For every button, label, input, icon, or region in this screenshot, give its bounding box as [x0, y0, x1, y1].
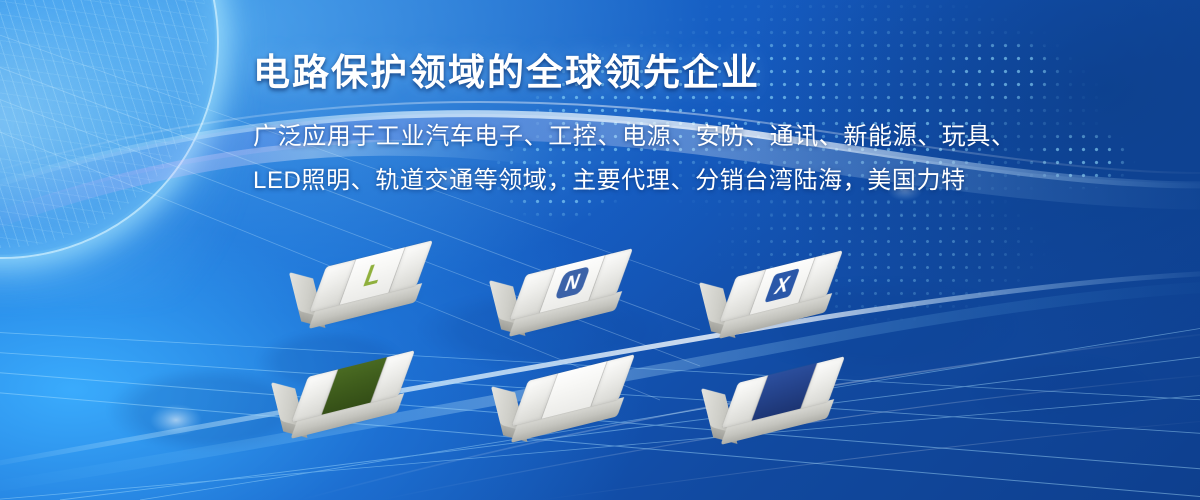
product-fuse-x: X	[728, 266, 838, 320]
product-fuse-l: L	[318, 256, 428, 310]
hero-banner: 电路保护领域的全球领先企业 广泛应用于工业汽车电子、工控、电源、安防、通讯、新能…	[0, 0, 1200, 500]
product-fuse-n: N	[518, 264, 628, 318]
product-chip-green	[300, 366, 410, 420]
product-chip-plain	[520, 370, 630, 424]
product-chip-blue	[730, 372, 840, 426]
product-showcase: L N X	[0, 0, 1200, 500]
